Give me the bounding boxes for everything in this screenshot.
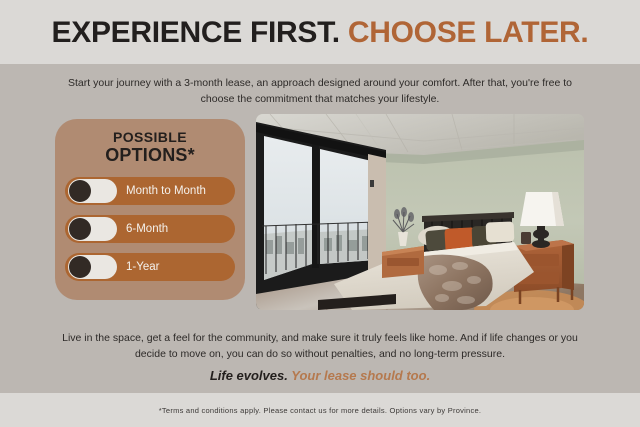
headline-accent: CHOOSE LATER. xyxy=(348,16,589,49)
options-title-line2: OPTIONS* xyxy=(55,145,245,166)
lease-option-label: 1-Year xyxy=(126,261,159,273)
header-band: EXPERIENCE FIRST. CHOOSE LATER. xyxy=(0,0,640,64)
lease-option-label: 6-Month xyxy=(126,223,168,235)
footer-band: *Terms and conditions apply. Please cont… xyxy=(0,393,640,427)
page-title: EXPERIENCE FIRST. CHOOSE LATER. xyxy=(52,18,589,48)
tagline-primary: Life evolves. xyxy=(210,368,288,383)
options-panel-title: POSSIBLE OPTIONS* xyxy=(55,129,245,166)
tagline: Life evolves. Your lease should too. xyxy=(60,368,580,383)
lease-option-label: Month to Month xyxy=(126,185,206,197)
bedroom-photo-illustration xyxy=(256,114,584,310)
toggle-switch-icon[interactable] xyxy=(68,179,117,203)
toggle-knob-icon xyxy=(69,256,91,278)
headline-primary: EXPERIENCE FIRST. xyxy=(52,16,340,49)
lease-option-1-year[interactable]: 1-Year xyxy=(65,253,235,281)
lease-options-list: Month to Month 6-Month 1-Year xyxy=(65,177,235,291)
intro-paragraph: Start your journey with a 3-month lease,… xyxy=(60,76,580,108)
toggle-knob-icon xyxy=(69,218,91,240)
toggle-knob-icon xyxy=(69,180,91,202)
toggle-switch-icon[interactable] xyxy=(68,255,117,279)
lease-option-month-to-month[interactable]: Month to Month xyxy=(65,177,235,205)
lease-option-6-month[interactable]: 6-Month xyxy=(65,215,235,243)
bedroom-photo xyxy=(256,114,584,310)
promo-poster: EXPERIENCE FIRST. CHOOSE LATER. Start yo… xyxy=(0,0,640,427)
options-title-line1: POSSIBLE xyxy=(55,129,245,145)
toggle-switch-icon[interactable] xyxy=(68,217,117,241)
footer-disclaimer: *Terms and conditions apply. Please cont… xyxy=(159,406,482,415)
tagline-accent: Your lease should too. xyxy=(291,368,430,383)
possible-options-panel: POSSIBLE OPTIONS* Month to Month 6-Month xyxy=(55,119,245,300)
body-paragraph: Live in the space, get a feel for the co… xyxy=(55,330,585,363)
